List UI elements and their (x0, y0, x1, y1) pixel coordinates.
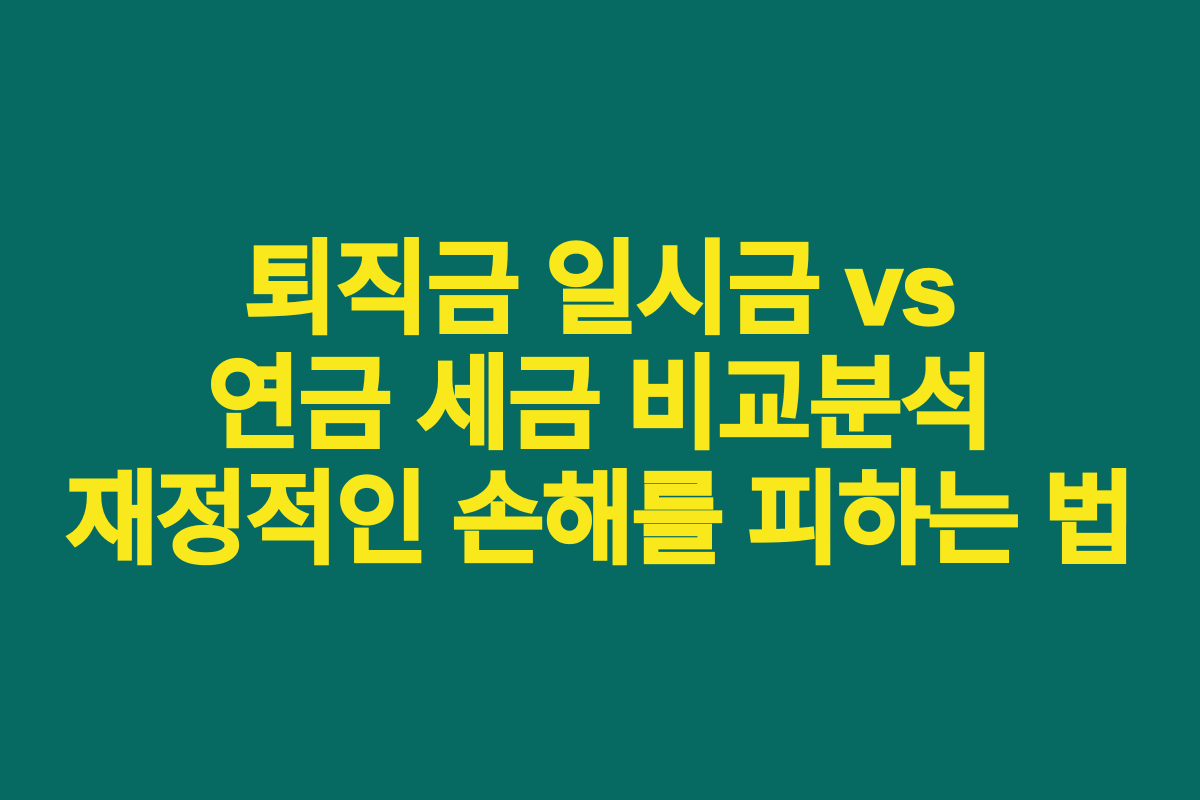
thumbnail-canvas: 퇴직금 일시금 vs 연금 세금 비교분석 재정적인 손해를 피하는 법 (0, 0, 1200, 800)
title-line-3: 재정적인 손해를 피하는 법 (8, 463, 1192, 578)
title-block: 퇴직금 일시금 vs 연금 세금 비교분석 재정적인 손해를 피하는 법 (0, 233, 1200, 578)
title-line-1: 퇴직금 일시금 vs (8, 233, 1192, 348)
title-line-2: 연금 세금 비교분석 (8, 348, 1192, 463)
